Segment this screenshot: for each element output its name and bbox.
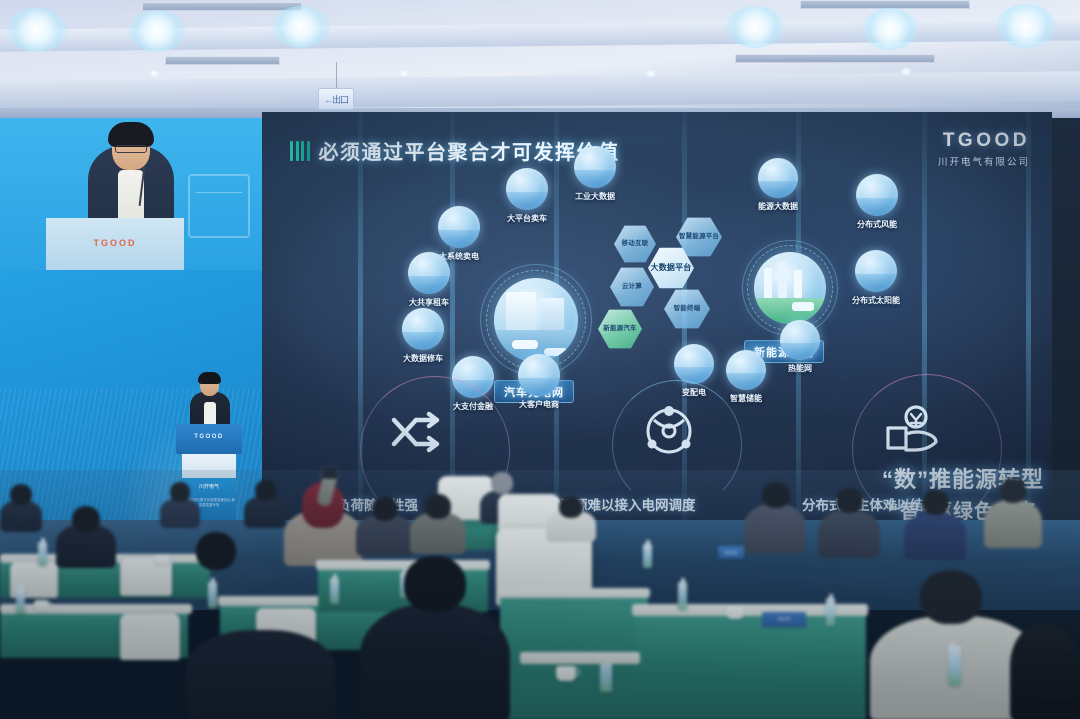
- node-label: 能源大数据: [758, 201, 798, 212]
- ceiling-spotlight: [272, 6, 330, 48]
- speaker-video-feed: TGOOD: [0, 118, 262, 270]
- audience-person: [160, 482, 200, 528]
- name-card-text: 参会代表: [718, 550, 744, 555]
- hvac-vent: [165, 56, 280, 65]
- person-torso: [984, 500, 1042, 548]
- ceiling-downlight: [398, 70, 410, 77]
- node-energy-bigdata: 能源大数据: [758, 158, 798, 212]
- feed-speaker-hair: [108, 122, 154, 147]
- person-torso: [818, 510, 880, 558]
- title-accent-bars-icon: [290, 141, 310, 161]
- hub-image-ev-charging: [494, 278, 578, 362]
- person-head: [920, 570, 982, 624]
- speaker-hair: [198, 372, 221, 384]
- hvac-vent: [735, 54, 935, 63]
- person-head: [72, 506, 100, 532]
- node-smart-energy-storage: 智慧储能: [726, 350, 766, 404]
- audience-person: [984, 478, 1042, 548]
- person-head: [404, 556, 466, 612]
- shuffle-arrows-icon: [390, 410, 446, 461]
- smartphone: [322, 468, 338, 479]
- audience-person: [818, 488, 880, 558]
- ceiling-spotlight: [128, 10, 186, 52]
- hex-label: 智能终端: [674, 305, 701, 312]
- name-card: 参会代表: [718, 546, 744, 559]
- node-distributed-solar: 分布式太阳能: [852, 250, 900, 306]
- hex-bigdata-platform-center: 大数据平台: [648, 246, 694, 290]
- node-shared-car-rental: 大共享租车: [408, 252, 450, 308]
- person-head: [10, 484, 32, 505]
- node-label: 工业大数据: [574, 191, 616, 202]
- audience-person: [56, 506, 116, 568]
- hex-smart-terminal: 智能终端: [664, 288, 710, 330]
- audience-person: [0, 484, 42, 532]
- audience-person: [172, 532, 258, 626]
- table-surface: [0, 604, 192, 614]
- water-bottle: [826, 598, 835, 626]
- node-label: 大共享租车: [408, 297, 450, 308]
- podium-top-panel: TGOOD: [176, 424, 242, 454]
- person-head: [170, 482, 190, 502]
- node-customer-ecommerce: 大客户电商: [518, 354, 560, 410]
- ceiling-downlight: [148, 70, 160, 77]
- name-card: 参会代表: [762, 612, 806, 627]
- wall-decor-graphic: [188, 174, 250, 238]
- person-head: [372, 496, 398, 521]
- person-head: [1000, 478, 1026, 503]
- person-torso: [360, 604, 510, 719]
- hex-label: 智慧能源平台: [679, 233, 719, 240]
- node-label: 大数据修车: [402, 353, 444, 364]
- exit-sign-label: ←出口: [324, 93, 348, 106]
- person-torso: [744, 504, 806, 554]
- node-label: 大客户电商: [518, 399, 560, 410]
- ceiling: ←出口: [0, 0, 1080, 120]
- hub-image-microgrid: [754, 252, 826, 324]
- hand-holding-money-icon: [880, 404, 942, 461]
- node-platform-car-sales: 大平台卖车: [506, 168, 548, 224]
- person-head: [836, 488, 863, 513]
- person-torso: [160, 498, 200, 528]
- water-bottle: [948, 646, 961, 686]
- sign-wire: [336, 62, 337, 89]
- exit-sign: ←出口: [318, 88, 354, 110]
- node-distributed-wind: 分布式风能: [856, 174, 898, 230]
- person-head: [491, 472, 513, 494]
- hvac-vent: [142, 2, 302, 11]
- person-torso: [904, 512, 966, 560]
- slide-title-block: 必须通过平台聚合才可发挥价值: [290, 136, 620, 165]
- node-label: 分布式太阳能: [852, 295, 900, 306]
- ceiling-spotlight: [726, 6, 784, 48]
- chair: [120, 614, 180, 660]
- person-head: [762, 482, 790, 508]
- slide-brand-block: TGOOD 川开电气有限公司: [938, 130, 1030, 168]
- person-torso: [1010, 624, 1080, 719]
- audience-person-foreground: [360, 556, 510, 719]
- node-label: 热能网: [780, 363, 820, 374]
- audience-person: [244, 480, 286, 528]
- ceiling-spotlight: [996, 4, 1056, 48]
- audience-person: [410, 494, 466, 554]
- hex-label: 移动互联: [622, 240, 649, 247]
- audience-person: [546, 496, 596, 542]
- audience-table: [636, 612, 866, 719]
- hex-cloud-computing: 云计算: [610, 266, 654, 308]
- speaker-on-stage: [186, 372, 232, 430]
- water-bottle: [330, 578, 339, 604]
- table-surface: [520, 652, 640, 664]
- person-head: [425, 494, 451, 519]
- audience-person-foreground: [186, 620, 336, 719]
- audience-person: [356, 496, 414, 556]
- person-head: [559, 496, 583, 518]
- ceiling-downlight: [900, 68, 912, 75]
- conference-hall-photo: ←出口 TGOOD 必须通过平台聚合才可发挥价值: [0, 0, 1080, 719]
- node-thermal-network: 热能网: [780, 320, 820, 374]
- person-torso: [186, 630, 336, 719]
- ceiling-spotlight: [862, 8, 918, 50]
- ceiling-spotlight: [6, 8, 68, 52]
- node-label: 智慧储能: [726, 393, 766, 404]
- hex-label: 新能源汽车: [603, 325, 637, 332]
- teacup: [155, 554, 170, 565]
- table-surface: [498, 588, 650, 598]
- audience-person-foreground: [1010, 610, 1080, 719]
- glasses-icon: [115, 145, 147, 153]
- person-head: [196, 532, 236, 570]
- node-label: 大平台卖车: [506, 213, 548, 224]
- teacup: [556, 666, 576, 681]
- node-bigdata-car-repair: 大数据修车: [402, 308, 444, 364]
- water-bottle: [16, 588, 25, 614]
- hex-label: 大数据平台: [651, 263, 692, 272]
- node-label: 分布式风能: [856, 219, 898, 230]
- person-head: [922, 490, 949, 515]
- hex-label: 云计算: [622, 283, 642, 290]
- brand-subtitle: 川开电气有限公司: [938, 154, 1030, 168]
- ceiling-downlight: [645, 70, 657, 77]
- water-bottle: [643, 544, 652, 568]
- water-bottle: [38, 542, 47, 566]
- presentation-screen: 必须通过平台聚合才可发挥价值 TGOOD 川开电气有限公司 汽车充电网 大系统卖…: [262, 112, 1052, 532]
- feed-podium: TGOOD: [46, 218, 184, 270]
- brand-name: TGOOD: [938, 130, 1030, 152]
- audience-area: 参会代表: [0, 470, 1080, 719]
- name-card-text: 参会代表: [762, 616, 806, 621]
- audience-person: [904, 490, 966, 560]
- teacup: [726, 606, 744, 619]
- podium-logo: TGOOD: [176, 434, 242, 440]
- teacup: [34, 600, 49, 611]
- person-head: [255, 480, 276, 501]
- wall-decor-graphic: [196, 192, 242, 193]
- atom-orbit-icon: [642, 404, 696, 463]
- audience-person: [744, 482, 806, 554]
- water-bottle: [678, 582, 687, 610]
- node-industrial-bigdata: 工业大数据: [574, 146, 616, 202]
- feed-podium-logo: TGOOD: [46, 238, 184, 248]
- ceiling-band: [0, 71, 1080, 110]
- hex-new-energy-vehicle: 新能源汽车: [598, 308, 642, 350]
